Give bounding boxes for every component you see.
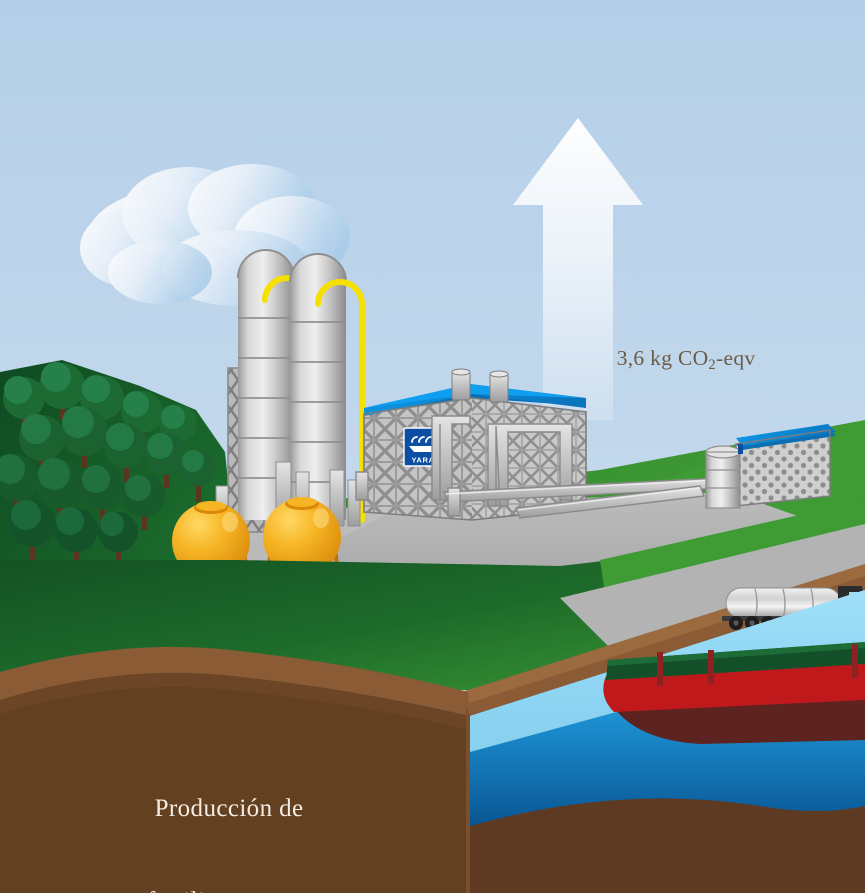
svg-text:YARA: YARA: [412, 456, 435, 465]
illustration-scene: YARA: [0, 0, 865, 893]
storage-building[interactable]: [736, 424, 836, 506]
scene-svg: YARA: [0, 0, 865, 893]
storage-tank-cylinder: [706, 444, 743, 508]
seabed-soil: [470, 798, 865, 893]
soil-vertical-edge: [466, 706, 470, 893]
roof-vent-2: [490, 371, 508, 402]
roof-vent-1: [452, 369, 470, 400]
